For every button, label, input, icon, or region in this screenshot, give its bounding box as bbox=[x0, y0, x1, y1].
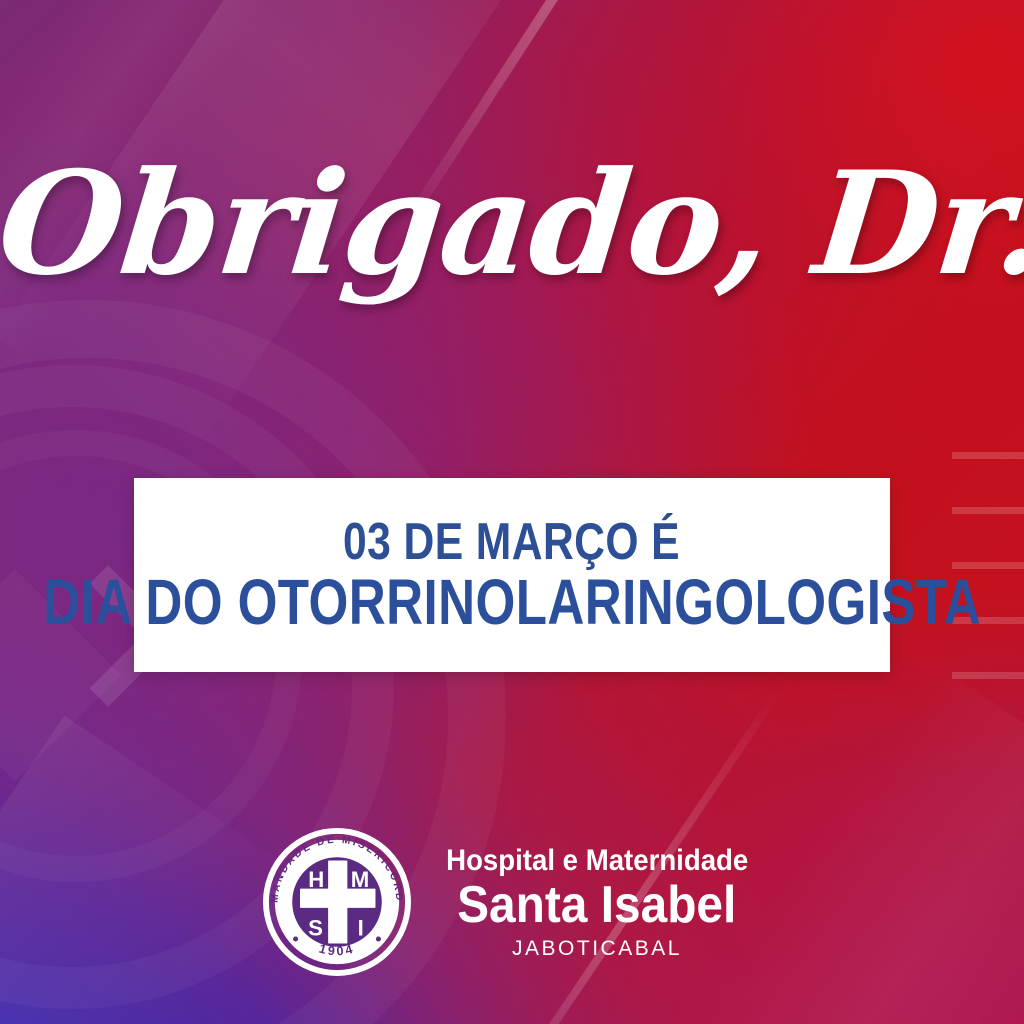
callout-date-line: 03 DE MARÇO É bbox=[343, 516, 680, 568]
poster-canvas: Obrigado, Dr. (a) 03 DE MARÇO É DIA DO O… bbox=[0, 0, 1024, 1024]
hospital-wordmark: Hospital e Maternidade Santa Isabel JABO… bbox=[433, 846, 761, 959]
callout-card: 03 DE MARÇO É DIA DO OTORRINOLARINGOLOGI… bbox=[134, 478, 890, 672]
seal-dot-left-icon bbox=[293, 936, 298, 941]
seal-dot-right-icon bbox=[376, 936, 381, 941]
hospital-seal-logo: H M S I IRMANDADE DE MISERICÓRDIA 1904 bbox=[263, 828, 411, 976]
seal-letter-i: I bbox=[357, 915, 363, 940]
seal-letter-m: M bbox=[350, 867, 368, 892]
wordmark-line-hospital: Hospital e Maternidade bbox=[446, 846, 748, 876]
wordmark-line-name: Santa Isabel bbox=[457, 879, 736, 931]
brand-lockup: H M S I IRMANDADE DE MISERICÓRDIA 1904 H… bbox=[0, 828, 1024, 976]
seal-letter-s: S bbox=[308, 915, 323, 940]
headline-text: Obrigado, Dr. (a) bbox=[0, 150, 1024, 299]
seal-letter-h: H bbox=[308, 867, 324, 892]
wordmark-line-city: JABOTICABAL bbox=[512, 938, 682, 959]
callout-occasion-line: DIA DO OTORRINOLARINGOLOGISTA bbox=[43, 570, 981, 634]
